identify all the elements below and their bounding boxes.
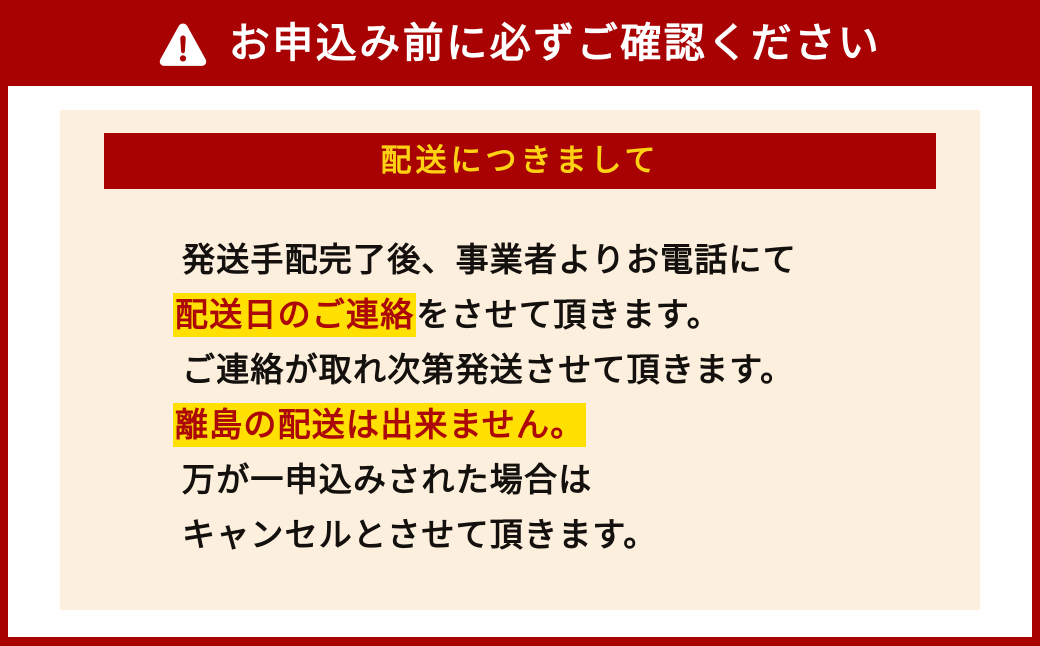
frame-rail-right	[1032, 0, 1040, 646]
highlighted-text: 離島の配送は出来ません。	[173, 403, 586, 447]
section-title-text: 配送につきまして	[380, 146, 659, 177]
content-panel: 配送につきまして 発送手配完了後、事業者よりお電話にて配送日のご連絡をさせて頂き…	[60, 110, 980, 610]
copy-line: ご連絡が取れ次第発送させて頂きます。	[173, 342, 933, 397]
frame-rail-bottom	[0, 637, 1040, 646]
copy-line: 配送日のご連絡をさせて頂きます。	[173, 287, 933, 342]
banner-header: お申込み前に必ずご確認ください	[0, 0, 1040, 86]
copy-line: 万が一申込みされた場合は	[173, 452, 933, 507]
frame-rail-left	[0, 0, 8, 646]
copy-line: 発送手配完了後、事業者よりお電話にて	[173, 232, 933, 287]
section-title-bar: 配送につきまして	[104, 133, 936, 189]
body-copy: 発送手配完了後、事業者よりお電話にて配送日のご連絡をさせて頂きます。ご連絡が取れ…	[173, 232, 933, 562]
plain-text: をさせて頂きます。	[416, 295, 721, 334]
plain-text: キャンセルとさせて頂きます。	[182, 515, 658, 554]
plain-text: 万が一申込みされた場合は	[182, 460, 592, 499]
copy-line: 離島の配送は出来ません。	[173, 397, 933, 452]
warning-triangle-icon	[159, 22, 207, 66]
highlighted-text: 配送日のご連絡	[173, 293, 416, 337]
notice-banner: お申込み前に必ずご確認ください 配送につきまして 発送手配完了後、事業者よりお電…	[0, 0, 1040, 646]
banner-header-title: お申込み前に必ずご確認ください	[229, 23, 882, 64]
copy-line: キャンセルとさせて頂きます。	[173, 507, 933, 562]
plain-text: ご連絡が取れ次第発送させて頂きます。	[182, 350, 794, 389]
plain-text: 発送手配完了後、事業者よりお電話にて	[182, 240, 797, 279]
